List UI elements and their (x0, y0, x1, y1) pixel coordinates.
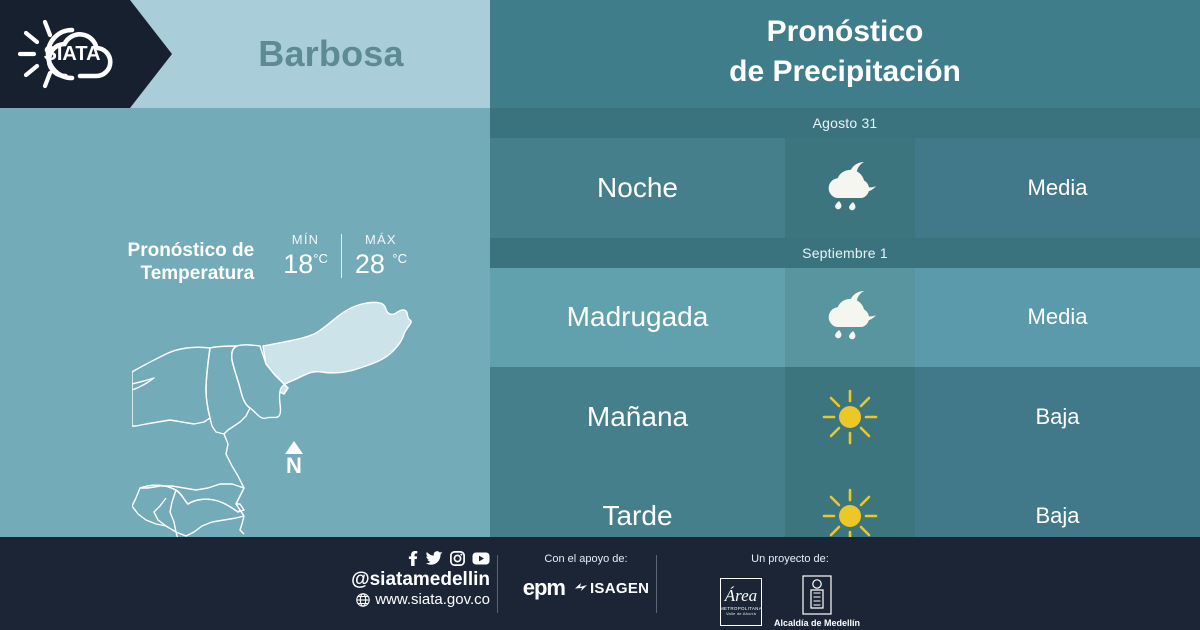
moon-cloud-rain-icon (817, 158, 883, 218)
alcaldia-crest-icon (802, 575, 832, 615)
left-header-band: SIATA Barbosa (0, 0, 490, 108)
forecast-weather-icon-cell (785, 138, 915, 238)
precipitation-title-line1: Pronóstico (490, 12, 1200, 52)
instagram-icon[interactable] (450, 551, 465, 566)
map-boundary-sw-2 (170, 490, 176, 532)
footer-divider-2 (656, 555, 657, 613)
project-logos: Área METROPOLITANA Valle de Aburrá Alca (700, 575, 880, 628)
precipitation-title-line2: de Precipitación (490, 52, 1200, 92)
forecast-period-label: Mañana (490, 367, 785, 467)
forecast-date-band: Septiembre 1 (490, 238, 1200, 268)
forecast-rows-container: Agosto 31NocheMediaSeptiembre 1Madrugada… (490, 108, 1200, 537)
forecast-row: NocheMedia (490, 138, 1200, 238)
project-block: Un proyecto de: Área METROPOLITANA Valle… (700, 553, 880, 628)
globe-icon (356, 593, 370, 607)
map-area: Pronóstico de Temperatura MÍN 18°C MÁX 2… (0, 108, 490, 537)
siata-logo-text: SIATA (43, 43, 100, 65)
temperature-min: MÍN 18°C (270, 230, 341, 279)
social-handle[interactable]: @siatamedellin (330, 569, 490, 591)
forecast-date-band: Agosto 31 (490, 108, 1200, 138)
alcaldia-logo: Alcaldía de Medellín (774, 575, 860, 628)
footer-divider-1 (497, 555, 498, 613)
map-region-bello (132, 347, 210, 426)
compass-north-marker: N (278, 441, 310, 483)
temperature-min-value: 18°C (283, 250, 328, 279)
area-sub-label-2: Valle de Aburrá (726, 611, 756, 616)
facebook-icon[interactable] (406, 550, 419, 566)
map-region-copacabana (206, 346, 250, 434)
temperature-max-number: 28 (355, 249, 385, 279)
map-region-barbosa (263, 302, 411, 394)
sponsor-block: Con el apoyo de: epm ISAGEN (516, 553, 656, 601)
temperature-forecast-block: Pronóstico de Temperatura MÍN 18°C MÁX 2… (90, 230, 420, 294)
website-row[interactable]: www.siata.gov.co (330, 591, 490, 609)
temperature-min-label: MÍN (283, 230, 328, 250)
temperature-max: MÁX 28 °C (342, 230, 420, 279)
moon-cloud-rain-icon (817, 287, 883, 347)
area-script-text: Área (725, 587, 757, 604)
forecast-period-label: Noche (490, 138, 785, 238)
temperature-min-unit: °C (313, 251, 328, 266)
temperature-max-unit: °C (392, 251, 407, 266)
youtube-icon[interactable] (472, 552, 490, 565)
epm-logo: epm (523, 575, 565, 601)
isagen-logo: ISAGEN (574, 580, 649, 597)
map-boundary-sw-1 (154, 498, 166, 526)
support-label: Con el apoyo de: (516, 553, 656, 565)
sponsor-logos: epm ISAGEN (516, 575, 656, 601)
temperature-title: Pronóstico de Temperatura (90, 230, 254, 285)
website-text: www.siata.gov.co (375, 591, 490, 609)
temperature-values: MÍN 18°C MÁX 28 °C (270, 230, 420, 279)
temperature-min-number: 18 (283, 249, 313, 279)
social-icons (330, 550, 490, 566)
siata-logo-icon: SIATA (14, 14, 130, 94)
compass-label: N (278, 454, 310, 477)
area-metropolitana-logo: Área METROPOLITANA Valle de Aburrá (720, 578, 762, 626)
temperature-title-line1: Pronóstico de (90, 239, 254, 262)
precipitation-title: Pronóstico de Precipitación (490, 12, 1200, 91)
temperature-max-label: MÁX (355, 230, 407, 250)
forecast-period-label: Madrugada (490, 268, 785, 368)
forecast-row: MadrugadaMedia (490, 268, 1200, 368)
temperature-title-line2: Temperatura (90, 262, 254, 285)
left-panel: SIATA Barbosa Pronóstico de Temperatura … (0, 0, 490, 537)
weather-forecast-infographic: SIATA Barbosa Pronóstico de Temperatura … (0, 0, 1200, 630)
map-region-itagui (132, 485, 244, 536)
social-block: @siatamedellin www.siata.gov.co (330, 550, 490, 609)
map-region-medellin (140, 484, 244, 512)
forecast-row: MañanaBaja (490, 367, 1200, 467)
isagen-bird-icon (574, 582, 588, 595)
project-label: Un proyecto de: (700, 553, 880, 565)
forecast-weather-icon-cell (785, 367, 915, 467)
forecast-weather-icon-cell (785, 268, 915, 368)
precipitation-panel: Pronóstico de Precipitación Agosto 31Noc… (490, 0, 1200, 537)
isagen-text: ISAGEN (590, 580, 649, 597)
footer: @siatamedellin www.siata.gov.co Con el a… (0, 537, 1200, 630)
alcaldia-label: Alcaldía de Medellín (774, 618, 860, 628)
forecast-probability-label: Media (915, 268, 1200, 368)
city-title: Barbosa (172, 0, 490, 108)
temperature-max-value: 28 °C (355, 250, 407, 279)
forecast-probability-label: Baja (915, 367, 1200, 467)
map-region-nw-edge (132, 378, 154, 390)
twitter-icon[interactable] (426, 550, 443, 566)
siata-logo-pennant: SIATA (0, 0, 172, 108)
sun-icon (820, 387, 880, 447)
forecast-probability-label: Media (915, 138, 1200, 238)
